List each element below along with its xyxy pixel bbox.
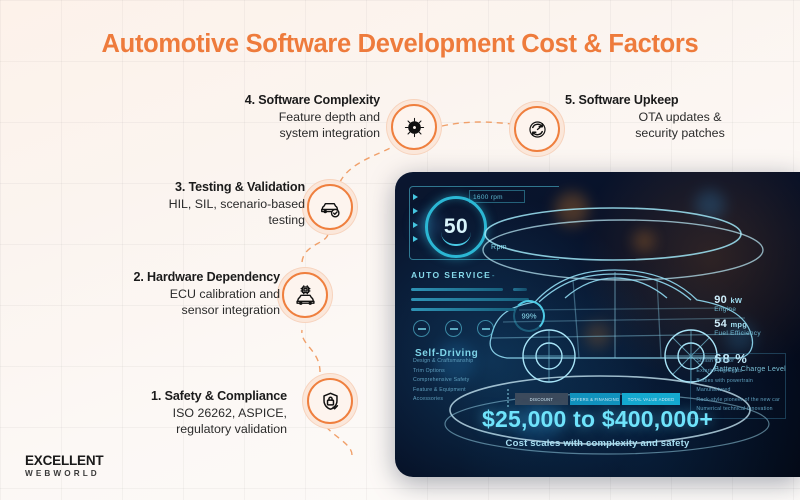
step-node-5[interactable]	[514, 106, 560, 152]
hud-list-item: Stylish Exterior	[696, 357, 780, 367]
stat-fuel-value: 54 mpg	[714, 318, 786, 330]
segment-discount: DISCOUNT	[515, 393, 568, 405]
stat-engine-value: 90 kW	[714, 294, 786, 306]
step-node-1[interactable]	[307, 378, 353, 424]
hud-toggle[interactable]	[477, 320, 494, 337]
price-callout: $25,000 to $400,000+ Cost scales with co…	[395, 406, 800, 449]
page-title: Automotive Software Development Cost & F…	[0, 30, 800, 59]
hud-list-item: Bodies with powertrain	[696, 377, 780, 387]
step-3-body: HIL, SIL, scenario-basedtesting	[45, 197, 305, 229]
car-check-icon	[320, 197, 341, 218]
step-4-heading: 4. Software Complexity	[90, 93, 380, 107]
hud-bar	[411, 288, 503, 291]
segment-financing: OFFERS & FINANCING	[570, 393, 620, 405]
brand-name-line1: EXCELLENT	[25, 453, 103, 468]
hud-toggle[interactable]	[445, 320, 462, 337]
stat-engine-unit: kW	[730, 296, 742, 305]
step-node-2[interactable]	[282, 272, 328, 318]
stat-engine-number: 90	[714, 294, 727, 306]
step-5-heading: 5. Software Upkeep	[565, 93, 795, 107]
efficiency-ring: 99%	[513, 300, 545, 332]
step-1-heading: 1. Safety & Compliance	[17, 389, 287, 403]
step-2-body: ECU calibration andsensor integration	[20, 287, 280, 319]
hud-arrow-list	[413, 194, 418, 242]
hud-list-left: Design & Craftsmanship Trim Options Comp…	[413, 357, 473, 405]
step-4-body: Feature depth andsystem integration	[90, 110, 380, 142]
hud-bar	[513, 288, 527, 291]
step-text-2: 2. Hardware Dependency ECU calibration a…	[20, 270, 280, 319]
segment-value-added: TOTAL VALUE ADDED	[622, 393, 680, 405]
step-text-3: 3. Testing & Validation HIL, SIL, scenar…	[45, 180, 305, 229]
hud-list-item: Feature & Equipment	[413, 386, 473, 396]
hud-list-item: Manufactured	[696, 386, 780, 396]
step-5-body: OTA updates &security patches	[565, 110, 795, 142]
brand-logo: EXCELLENT WEBWORLD	[25, 453, 103, 478]
gear-icon	[404, 117, 425, 138]
step-text-1: 1. Safety & Compliance ISO 26262, ASPICE…	[17, 389, 287, 438]
step-node-4[interactable]	[391, 104, 437, 150]
hud-list-item: Exterior Highlights	[696, 367, 780, 377]
refresh-cycle-icon	[527, 119, 548, 140]
stat-fuel-unit: mpg	[730, 320, 747, 329]
hud-panel: 1600 rpm 50 Rpm	[395, 172, 800, 477]
shield-lock-check-icon	[320, 391, 341, 412]
cost-segment-bar: DISCOUNT OFFERS & FINANCING TOTAL VALUE …	[515, 393, 680, 405]
hud-toggle[interactable]	[413, 320, 430, 337]
step-node-3[interactable]	[307, 184, 353, 230]
hud-list-item: Accessories	[413, 395, 473, 405]
step-text-5: 5. Software Upkeep OTA updates &security…	[565, 93, 795, 142]
car-chip-icon	[295, 285, 316, 306]
hud-list-item: Design & Craftsmanship	[413, 357, 473, 367]
infographic-canvas: Automotive Software Development Cost & F…	[0, 0, 800, 500]
step-3-heading: 3. Testing & Validation	[45, 180, 305, 194]
hud-bar	[411, 308, 515, 311]
efficiency-ring-value: 99%	[521, 312, 536, 321]
step-2-heading: 2. Hardware Dependency	[20, 270, 280, 284]
step-1-body: ISO 26262, ASPICE,regulatory validation	[17, 406, 287, 438]
hud-list-item: Trim Options	[413, 367, 473, 377]
hud-bar	[411, 298, 529, 301]
stat-fuel-label: Fuel Efficiency	[714, 330, 786, 337]
auto-service-label: AUTO SERVICE	[411, 270, 491, 280]
gauge-top-label: 1600 rpm	[473, 194, 503, 201]
price-amount: $25,000 to $400,000+	[395, 406, 800, 433]
stat-fuel-number: 54	[714, 318, 727, 330]
stat-engine-label: Engine	[714, 306, 786, 313]
segbar-ticks	[507, 389, 509, 407]
hud-list-item: Comprehensive Safety	[413, 376, 473, 386]
brand-name-line2: WEBWORLD	[25, 469, 103, 478]
auto-service-caret: - -	[483, 271, 497, 280]
price-subtitle: Cost scales with complexity and safety	[395, 438, 800, 449]
rpm-gauge-value: 50	[444, 215, 468, 239]
hud-list-item: Rack-style pioneer of the new car	[696, 396, 780, 406]
step-text-4: 4. Software Complexity Feature depth and…	[90, 93, 380, 142]
